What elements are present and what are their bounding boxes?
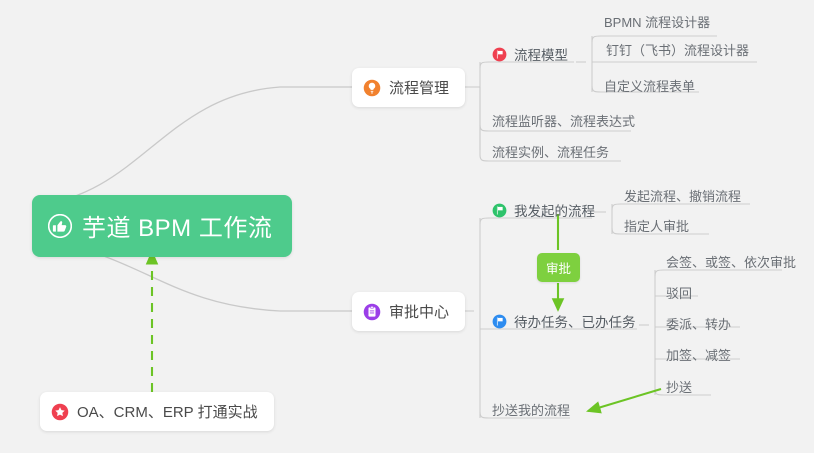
subbranch-label-process-model: 流程模型 [514, 44, 568, 64]
mindmap-canvas: 芋道 BPM 工作流 流程管理 流程模型 BPMN 流程设计器 钉钉（飞书）流程… [0, 0, 814, 453]
subbranch-label-todo-done-tasks: 待办任务、已办任务 [514, 311, 636, 331]
flag-icon-blue [492, 314, 507, 329]
leaf-node-start-cancel-process[interactable]: 发起流程、撤销流程 [624, 186, 741, 209]
floating-label-integration: OA、CRM、ERP 打通实战 [77, 401, 258, 422]
leaf-node-instance-task[interactable]: 流程实例、流程任务 [492, 142, 609, 165]
tag-node-approval[interactable]: 审批 [537, 253, 580, 282]
branch-node-approval-center[interactable]: 审批中心 [352, 292, 465, 331]
arrow-cc-to-my-cc [588, 389, 661, 411]
flag-icon-red [492, 47, 507, 62]
root-label: 芋道 BPM 工作流 [82, 208, 272, 243]
leaf-node-delegate-transfer[interactable]: 委派、转办 [666, 314, 731, 337]
branch-label-approval-center: 审批中心 [389, 301, 449, 322]
leaf-node-listener-expression[interactable]: 流程监听器、流程表达式 [492, 111, 635, 134]
leaf-node-carbon-copy[interactable]: 抄送 [666, 377, 692, 400]
floating-node-integration[interactable]: OA、CRM、ERP 打通实战 [40, 392, 274, 431]
thumbs-up-icon [48, 214, 72, 238]
branch-label-process-management: 流程管理 [389, 77, 449, 98]
subbranch-node-process-model[interactable]: 流程模型 [492, 44, 568, 67]
leaf-node-cc-my-process[interactable]: 抄送我的流程 [492, 400, 570, 423]
leaf-node-assignee-approval[interactable]: 指定人审批 [624, 216, 689, 239]
subbranch-label-my-initiated: 我发起的流程 [514, 200, 595, 220]
link-root-to-process-management [36, 87, 352, 205]
lightbulb-icon [363, 79, 381, 97]
root-node[interactable]: 芋道 BPM 工作流 [32, 195, 292, 257]
subbranch-node-todo-done-tasks[interactable]: 待办任务、已办任务 [492, 311, 636, 334]
star-icon [51, 403, 69, 421]
leaf-node-add-remove-sign[interactable]: 加签、减签 [666, 345, 731, 368]
leaf-node-dingtalk-designer[interactable]: 钉钉（飞书）流程设计器 [606, 40, 749, 63]
flag-icon-green [492, 203, 507, 218]
leaf-node-bpmn-designer[interactable]: BPMN 流程设计器 [604, 12, 710, 35]
clipboard-icon [363, 303, 381, 321]
branch-node-process-management[interactable]: 流程管理 [352, 68, 465, 107]
tag-label-approval: 审批 [546, 262, 571, 276]
leaf-node-custom-form[interactable]: 自定义流程表单 [604, 76, 695, 99]
leaf-node-reject[interactable]: 驳回 [666, 283, 692, 306]
subbranch-node-my-initiated[interactable]: 我发起的流程 [492, 200, 595, 223]
leaf-node-countersign[interactable]: 会签、或签、依次审批 [666, 252, 796, 275]
